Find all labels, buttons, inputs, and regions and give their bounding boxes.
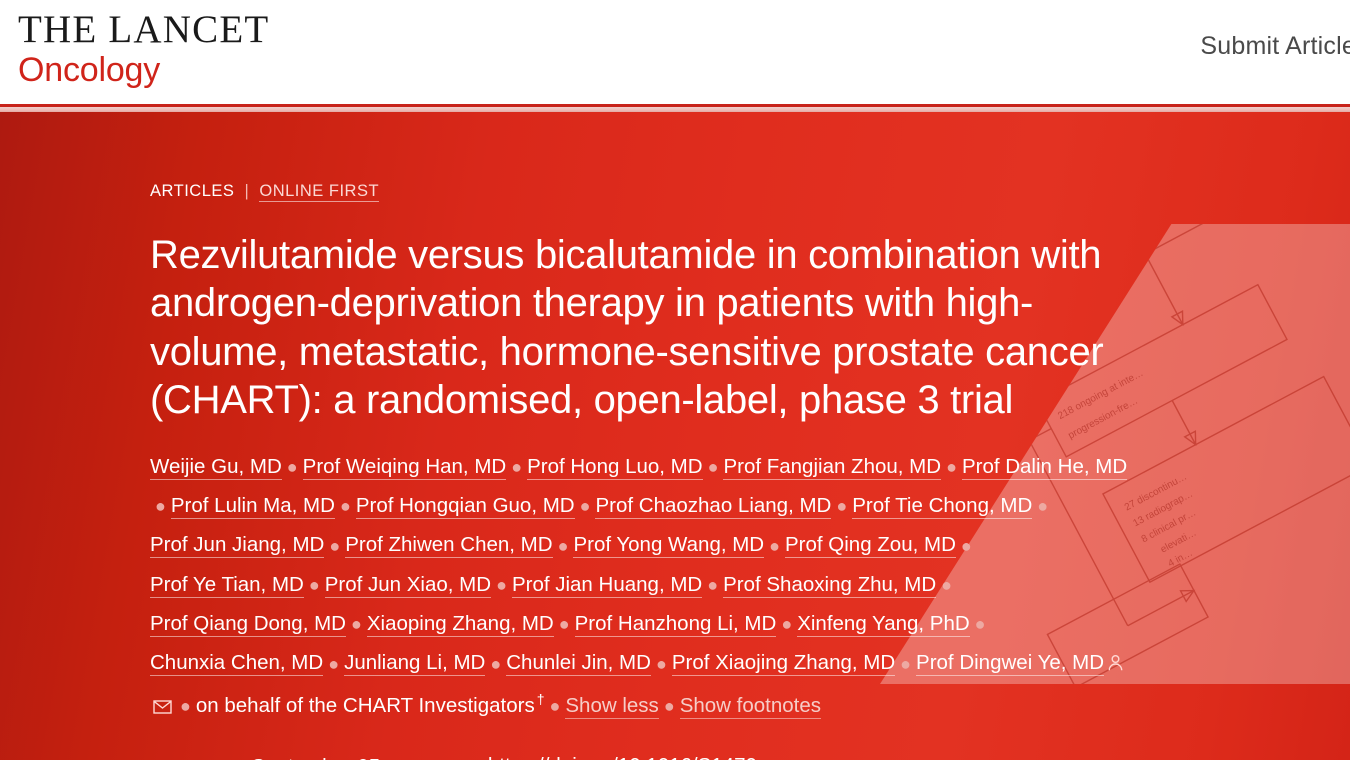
author-list: Weijie Gu, MD●Prof Weiqing Han, MD●Prof … [150,447,1130,729]
author-separator-dot: ● [490,647,501,682]
author-separator-dot: ● [180,689,191,724]
author-link[interactable]: Xiaoping Zhang, MD [367,612,554,637]
wm-text-5: elevati… [1159,528,1199,556]
author-separator-dot: ● [580,489,591,524]
wm-text-2: 27 discontinu… [1123,471,1189,513]
author-link[interactable]: Prof Qiang Dong, MD [150,612,346,637]
doi-link[interactable]: https://doi.org/10.1016/S1470-2045(22)00… [488,754,879,760]
author-link[interactable]: Prof Shaoxing Zhu, MD [723,573,936,598]
author-separator-dot: ● [328,647,339,682]
author-separator-dot: ● [329,529,340,564]
author-separator-dot: ● [900,647,911,682]
author-link[interactable]: Prof Hanzhong Li, MD [575,612,777,637]
author-link[interactable]: Prof Jun Jiang, MD [150,533,324,558]
site-header: THE LANCET Oncology Submit Article [0,0,1350,104]
author-profile-icon[interactable] [1107,646,1124,685]
author-separator-dot: ● [558,529,569,564]
show-footnotes-link[interactable]: Show footnotes [680,694,821,719]
site-logo[interactable]: THE LANCET Oncology [18,10,269,87]
hero-content: ARTICLES | ONLINE FIRST Rezvilutamide ve… [0,112,1130,760]
author-separator-dot: ● [340,489,351,524]
footnote-marker: † [537,691,545,707]
author-link-last[interactable]: Prof Dingwei Ye, MD [916,651,1104,676]
author-link[interactable]: Prof Qing Zou, MD [785,533,956,558]
author-link[interactable]: Prof Xiaojing Zhang, MD [672,651,895,676]
author-separator-dot: ● [941,568,952,603]
author-link[interactable]: Prof Chaozhao Liang, MD [595,494,831,519]
author-link[interactable]: Chunlei Jin, MD [506,651,651,676]
author-link[interactable]: Prof Jian Huang, MD [512,573,702,598]
author-separator-dot: ● [1037,489,1048,524]
submit-article-link[interactable]: Submit Article [1200,32,1350,60]
header-nav: Submit Article [1200,32,1350,61]
author-separator-dot: ● [781,607,792,642]
online-first-link[interactable]: ONLINE FIRST [259,182,379,202]
author-separator-dot: ● [511,450,522,485]
author-link[interactable]: Prof Tie Chong, MD [852,494,1032,519]
author-separator-dot: ● [550,689,561,724]
breadcrumb: ARTICLES | ONLINE FIRST [150,182,1130,201]
author-separator-dot: ● [656,647,667,682]
author-separator-dot: ● [287,450,298,485]
article-hero-banner: 218 ongoing at inte… progression-fre… 27… [0,112,1350,760]
author-separator-dot: ● [559,607,570,642]
author-link[interactable]: Prof Lulin Ma, MD [171,494,335,519]
article-title: Rezvilutamide versus bicalutamide in com… [150,231,1130,425]
wm-text-3: 13 radiograp… [1131,489,1195,530]
group-author-label: on behalf of the CHART Investigators [196,694,535,717]
author-separator-dot: ● [769,529,780,564]
author-link[interactable]: Prof Weiqing Han, MD [303,455,507,480]
author-link[interactable]: Prof Yong Wang, MD [573,533,764,558]
email-icon[interactable] [153,689,172,728]
author-separator-dot: ● [836,489,847,524]
author-link[interactable]: Prof Hongqian Guo, MD [356,494,575,519]
author-link[interactable]: Prof Zhiwen Chen, MD [345,533,552,558]
logo-text-oncology: Oncology [18,53,269,87]
author-link[interactable]: Prof Fangjian Zhou, MD [723,455,941,480]
author-link[interactable]: Prof Dalin He, MD [962,455,1127,480]
author-link[interactable]: Chunxia Chen, MD [150,651,323,676]
publication-info: Published: September 05, 2022 ● DOI: htt… [150,754,1130,760]
author-separator-dot: ● [155,489,166,524]
author-separator-dot: ● [961,529,972,564]
author-separator-dot: ● [975,607,986,642]
wm-text-4: 8 clinical pr… [1140,507,1198,545]
author-link[interactable]: Prof Jun Xiao, MD [325,573,491,598]
author-link[interactable]: Prof Ye Tian, MD [150,573,304,598]
author-separator-dot: ● [707,568,718,603]
author-separator-dot: ● [309,568,320,603]
author-separator-dot: ● [351,607,362,642]
author-link[interactable]: Weijie Gu, MD [150,455,282,480]
author-link[interactable]: Prof Hong Luo, MD [527,455,702,480]
show-less-link[interactable]: Show less [565,694,658,719]
author-separator-dot: ● [664,689,675,724]
published-date: September 05, 2022 [251,755,419,760]
wm-text-6: 4 in… [1166,548,1194,570]
logo-text-lancet: THE LANCET [18,10,269,49]
author-link[interactable]: Junliang Li, MD [344,651,485,676]
author-link[interactable]: Xinfeng Yang, PhD [797,612,969,637]
kicker-section-label: ARTICLES [150,182,234,200]
author-separator-dot: ● [946,450,957,485]
author-separator-dot: ● [496,568,507,603]
author-separator-dot: ● [708,450,719,485]
kicker-separator: | [244,182,249,200]
